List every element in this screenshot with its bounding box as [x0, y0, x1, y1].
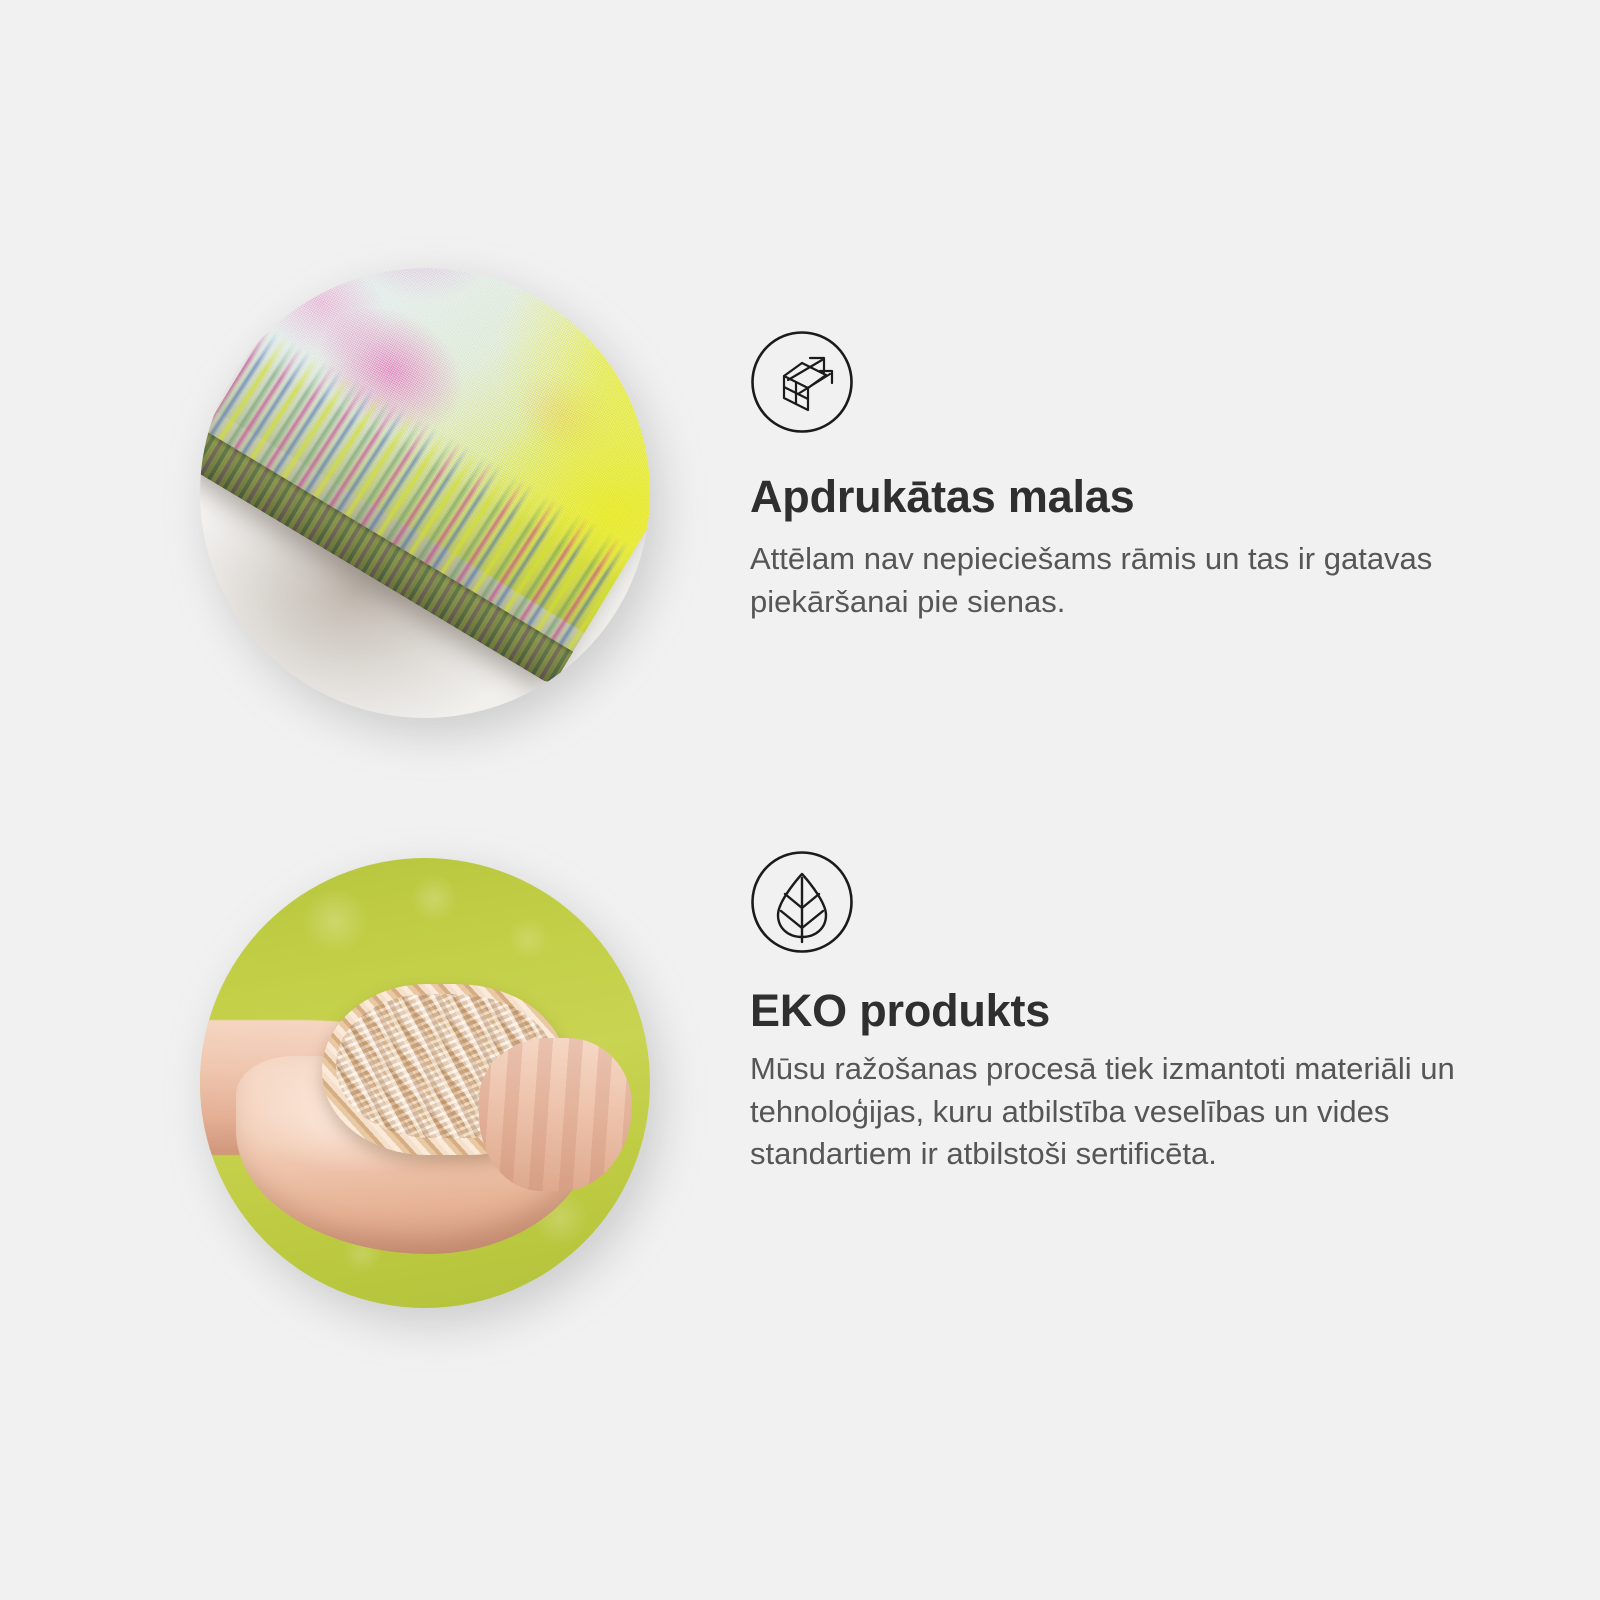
circular-photo-frame — [200, 858, 650, 1308]
fingers — [479, 1038, 632, 1191]
canvas-corner-photo — [200, 268, 650, 718]
feature-block-eco-product: EKO produkts Mūsu ražošanas procesā tiek… — [0, 830, 1600, 1350]
feature-block-printed-edges: Apdrukātas malas Attēlam nav nepieciešam… — [0, 240, 1600, 760]
feature-description: Mūsu ražošanas procesā tiek izmantoti ma… — [750, 1048, 1470, 1174]
feature-highlights-page: Apdrukātas malas Attēlam nav nepieciešam… — [0, 0, 1600, 1600]
circular-photo-frame — [200, 268, 650, 718]
feature-text-eco-product: EKO produkts Mūsu ražošanas procesā tiek… — [750, 850, 1510, 1175]
canvas-wrap-arrows-icon — [750, 330, 854, 434]
feature-description: Attēlam nav nepieciešams rāmis un tas ir… — [750, 538, 1470, 622]
feature-image-printed-edges — [200, 268, 650, 718]
leaf-icon — [750, 850, 854, 954]
feature-title: EKO produkts — [750, 986, 1510, 1036]
wood-chips-photo — [200, 858, 650, 1308]
feature-text-printed-edges: Apdrukātas malas Attēlam nav nepieciešam… — [750, 330, 1510, 623]
feature-image-eco-product — [200, 858, 650, 1308]
feature-title: Apdrukātas malas — [750, 472, 1510, 522]
canvas-board — [200, 268, 650, 686]
